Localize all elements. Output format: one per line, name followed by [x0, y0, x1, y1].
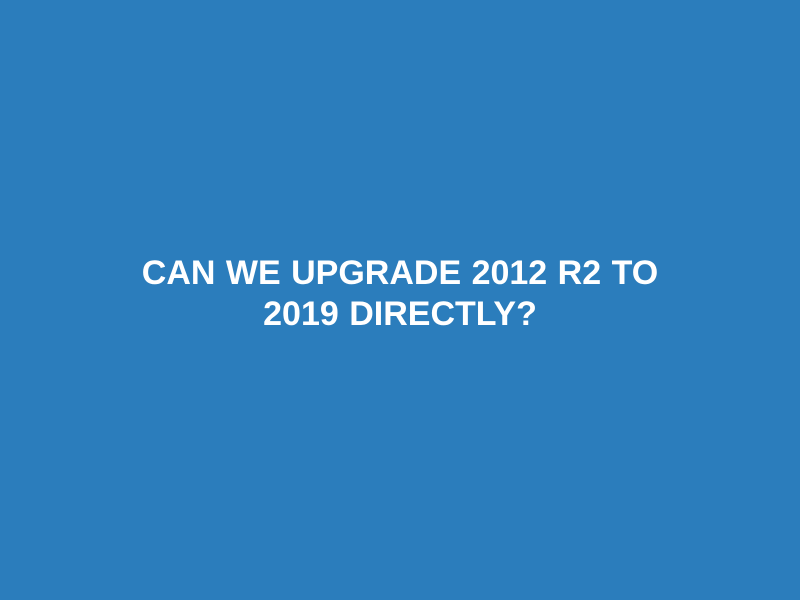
headline-block: CAN WE UPGRADE 2012 R2 TO 2019 DIRECTLY?: [0, 0, 800, 335]
page-title: CAN WE UPGRADE 2012 R2 TO 2019 DIRECTLY?: [100, 253, 700, 335]
hero-card: CAN WE UPGRADE 2012 R2 TO 2019 DIRECTLY?: [0, 0, 800, 600]
